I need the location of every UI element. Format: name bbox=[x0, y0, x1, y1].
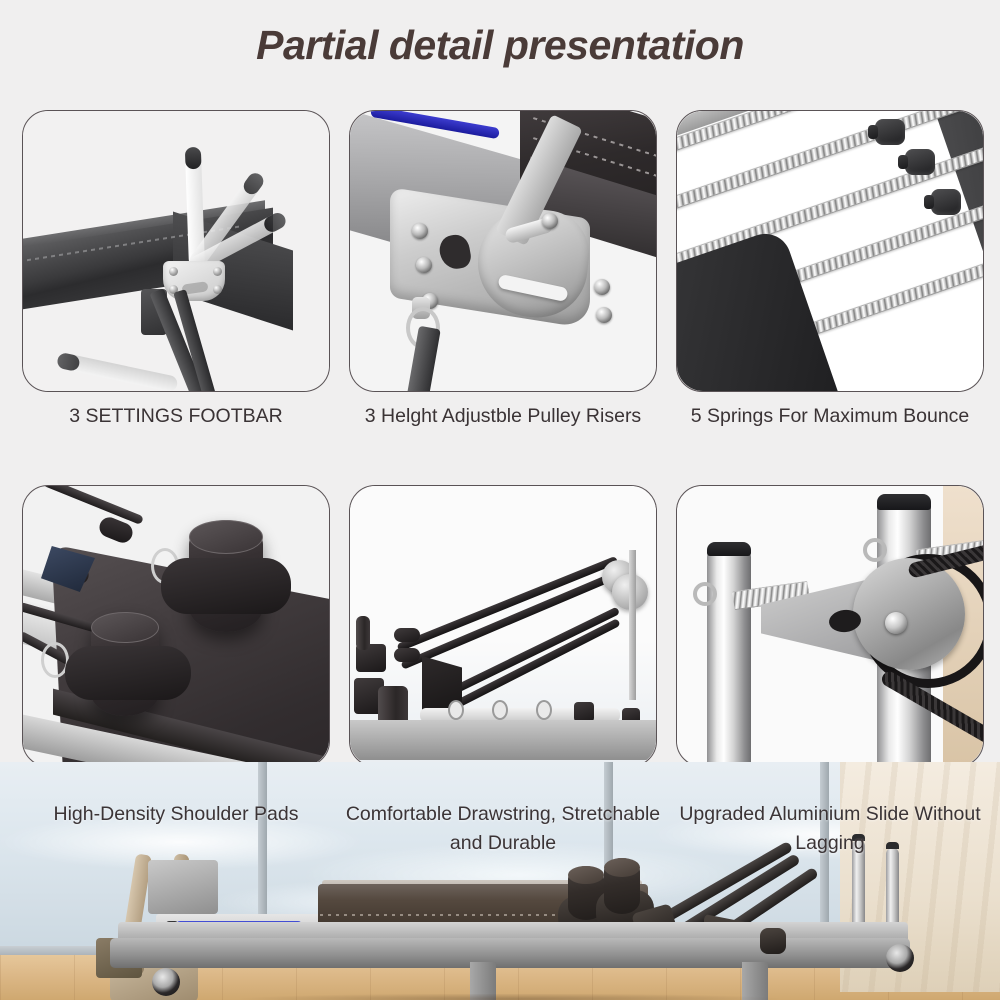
post-cap-icon bbox=[707, 542, 751, 556]
feature-card-drawstring[interactable]: Comfortable Drawstring, Stretchable and … bbox=[349, 485, 657, 767]
post-cap-icon bbox=[877, 494, 931, 510]
feature-caption: 3 SETTINGS FOOTBAR bbox=[14, 402, 338, 431]
card-frame bbox=[22, 110, 330, 392]
bolt-icon bbox=[542, 213, 558, 229]
footbar-illustration bbox=[23, 111, 329, 391]
track-stop bbox=[574, 702, 594, 722]
card-frame bbox=[22, 485, 330, 767]
bolt-icon bbox=[596, 307, 612, 323]
shoulder-pad-top bbox=[604, 858, 640, 877]
card-frame bbox=[676, 110, 984, 392]
aluminium-slide-illustration bbox=[677, 486, 983, 766]
footbar-cap-icon bbox=[185, 147, 202, 170]
footbar-position-1 bbox=[58, 352, 179, 391]
feature-row-top: 3 SETTINGS FOOTBAR bbox=[0, 110, 1000, 485]
springs-illustration bbox=[677, 111, 983, 391]
strap-rope bbox=[23, 486, 144, 525]
feature-card-shoulder-pads[interactable]: High-Density Shoulder Pads bbox=[22, 485, 330, 767]
riser-post-left bbox=[707, 548, 751, 766]
bolt-icon bbox=[594, 279, 610, 295]
track-eyelet bbox=[536, 700, 552, 720]
shoulder-pad-base-1 bbox=[161, 558, 291, 614]
footbar-cap-icon bbox=[241, 170, 267, 197]
axle-bolt-icon bbox=[885, 612, 907, 634]
shoulder-pad-top bbox=[189, 520, 263, 554]
bolt-icon bbox=[213, 285, 222, 294]
shoulder-pad-top bbox=[568, 866, 604, 884]
spring-hook-icon bbox=[693, 582, 717, 606]
track-eyelet bbox=[448, 700, 464, 720]
strap-end-cap bbox=[394, 628, 420, 642]
feature-caption: 5 Springs For Maximum Bounce bbox=[668, 402, 992, 431]
frame-base bbox=[350, 720, 656, 760]
card-image-clip bbox=[23, 486, 329, 766]
feature-card-pulley-risers[interactable]: 3 Helght Adjustble Pulley Risers bbox=[349, 110, 657, 392]
hero-caption-drawstring: Comfortable Drawstring, Stretchable and … bbox=[341, 800, 665, 858]
feature-card-footbar[interactable]: 3 SETTINGS FOOTBAR bbox=[22, 110, 330, 392]
frame-knob bbox=[760, 928, 786, 954]
card-image-clip bbox=[350, 111, 656, 391]
card-frame bbox=[349, 110, 657, 392]
feature-card-springs[interactable]: 5 Springs For Maximum Bounce bbox=[676, 110, 984, 392]
strap-end-cap bbox=[394, 648, 420, 662]
footbar-mount bbox=[148, 860, 218, 914]
product-detail-page: Partial detail presentation bbox=[0, 0, 1000, 1000]
hero-caption-shoulder-pads: High-Density Shoulder Pads bbox=[14, 800, 338, 829]
card-image-clip bbox=[23, 111, 329, 391]
spring-hook-icon bbox=[863, 538, 887, 562]
bolt-icon bbox=[169, 267, 178, 276]
card-frame bbox=[676, 485, 984, 767]
card-image-clip bbox=[677, 486, 983, 766]
riser-post bbox=[629, 550, 636, 700]
bolt-icon bbox=[416, 257, 432, 273]
frame-base-rail bbox=[110, 938, 910, 968]
footbar-cap-icon bbox=[56, 352, 81, 372]
frame-wheel-right bbox=[886, 944, 914, 972]
shoulder-pad-base-2 bbox=[65, 646, 191, 700]
card-image-clip bbox=[350, 486, 656, 766]
feature-card-aluminium-slide[interactable]: Upgraded Aluminium Slide Without Lagging bbox=[676, 485, 984, 767]
card-frame bbox=[349, 485, 657, 767]
pulley-riser-illustration bbox=[350, 111, 656, 391]
frame-wheel-left bbox=[152, 968, 180, 996]
spring-knob-2 bbox=[905, 149, 935, 175]
hero-caption-slide: Upgraded Aluminium Slide Without Lagging bbox=[668, 800, 992, 858]
bolt-icon bbox=[412, 223, 428, 239]
shoulder-pad-front bbox=[604, 858, 640, 914]
track-eyelet bbox=[492, 700, 508, 720]
hero-product-scene: High-Density Shoulder Pads Comfortable D… bbox=[0, 762, 1000, 1000]
card-image-clip bbox=[677, 111, 983, 391]
spring-knob-3 bbox=[931, 189, 961, 215]
drawstring-illustration bbox=[350, 486, 656, 766]
riser-stub bbox=[356, 616, 370, 650]
page-title: Partial detail presentation bbox=[0, 22, 1000, 69]
shoulder-pad-top bbox=[91, 612, 159, 643]
floor-shadow bbox=[130, 994, 890, 1000]
spring-knob-1 bbox=[875, 119, 905, 145]
pulley-wheel bbox=[853, 558, 965, 670]
bolt-icon bbox=[213, 267, 222, 276]
feature-caption: 3 Helght Adjustble Pulley Risers bbox=[341, 402, 665, 431]
shoulder-pads-illustration bbox=[23, 486, 329, 766]
